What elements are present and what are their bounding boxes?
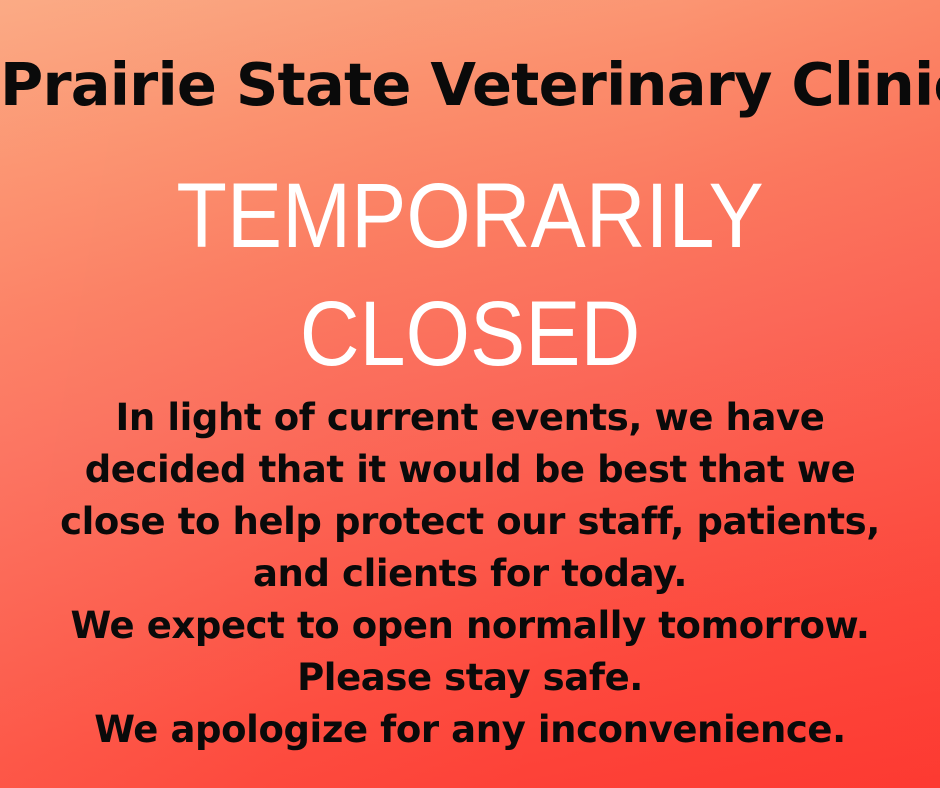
status-headline-line-1: TEMPORARILY: [47, 157, 893, 275]
message-line-3: close to help protect our staff, patient…: [0, 496, 940, 548]
message-line-1: In light of current events, we have: [0, 392, 940, 444]
status-headline-line-2: CLOSED: [47, 275, 893, 393]
poster-content: Prairie State Veterinary Clinic TEMPORAR…: [0, 0, 940, 788]
message-line-7: We apologize for any inconvenience.: [0, 704, 940, 756]
message-line-2: decided that it would be best that we: [0, 444, 940, 496]
message-line-5: We expect to open normally tomorrow.: [0, 600, 940, 652]
message-line-6: Please stay safe.: [0, 652, 940, 704]
status-headline: TEMPORARILY CLOSED: [0, 157, 940, 393]
message-line-4: and clients for today.: [0, 548, 940, 600]
closure-notice-poster: Prairie State Veterinary Clinic TEMPORAR…: [0, 0, 940, 788]
clinic-name-heading: Prairie State Veterinary Clinic: [0, 55, 940, 114]
closure-message-body: In light of current events, we have deci…: [0, 392, 940, 756]
